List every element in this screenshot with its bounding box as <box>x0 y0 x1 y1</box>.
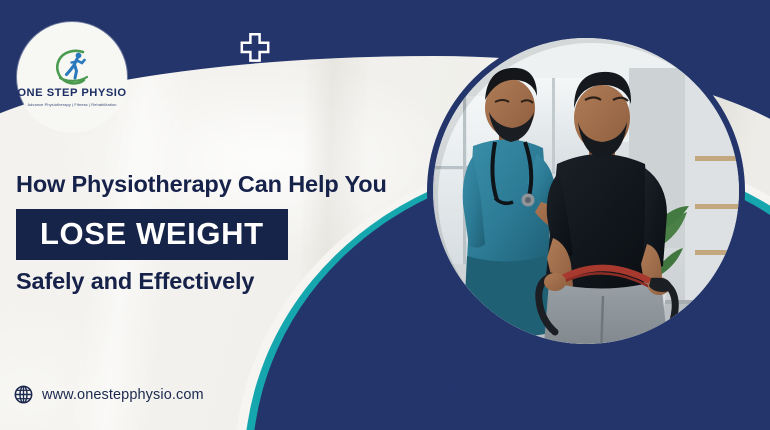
headline-line-3: Safely and Effectively <box>16 269 436 295</box>
promo-banner: ONE STEP PHYSIO Advance Physiotherapy | … <box>0 0 770 430</box>
footer-url-group[interactable]: www.onestepphysio.com <box>14 385 204 404</box>
medical-cross-icon-top <box>238 32 272 66</box>
hero-photo-circle <box>427 32 745 350</box>
logo-tagline: Advance Physiotherapy | Fitness | Rehabi… <box>27 102 116 107</box>
headline-block: How Physiotherapy Can Help You LOSE WEIG… <box>16 172 436 295</box>
logo-badge[interactable]: ONE STEP PHYSIO Advance Physiotherapy | … <box>17 22 127 132</box>
logo-wordmark: ONE STEP PHYSIO <box>17 88 126 99</box>
globe-icon <box>14 385 33 404</box>
headline-line-1: How Physiotherapy Can Help You <box>16 172 436 198</box>
headline-highlight-box: LOSE WEIGHT <box>16 209 288 260</box>
website-url[interactable]: www.onestepphysio.com <box>42 387 204 403</box>
medical-cross-icon-bottom <box>425 369 459 403</box>
hero-photo <box>433 38 739 344</box>
running-figure-icon <box>49 47 95 87</box>
headline-highlight-text: LOSE WEIGHT <box>40 216 264 251</box>
